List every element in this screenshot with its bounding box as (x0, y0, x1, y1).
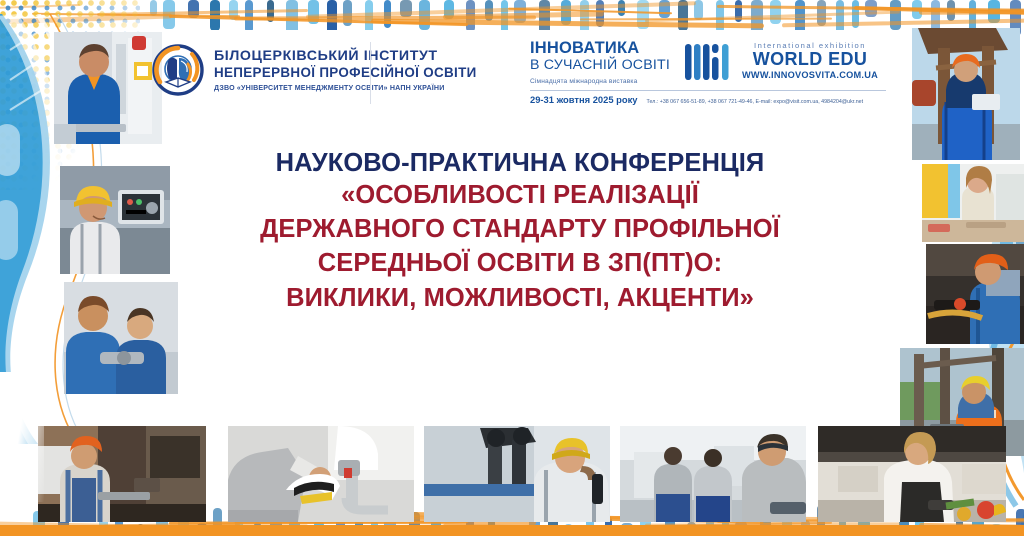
conference-title-line-2: ДЕРЖАВНОГО СТАНДАРТУ ПРОФІЛЬНОЇ (150, 212, 890, 246)
institute-name-line2: НЕПЕРЕРВНОЇ ПРОФЕСІЙНОЇ ОСВІТИ (214, 65, 477, 80)
innovatica-line2: В СУЧАСНІЙ ОСВІТІ (530, 58, 678, 74)
photo-bottom-3: Дівчина у жовтій касці з рацією біля про… (424, 426, 610, 522)
institute-text: БІЛОЦЕРКІВСЬКИЙ ІНСТИТУТ НЕПЕРЕРВНОЇ ПРО… (214, 49, 477, 91)
photo-right-3: Робітник у помаранчевій касці працює з д… (926, 244, 1024, 344)
innovatica-line1: ІННОВАТИКА (530, 40, 678, 57)
photo-bottom-1: Слюсар у помаранчевій касці працює в май… (38, 426, 206, 522)
conference-title-line-4: ВИКЛИКИ, МОЖЛИВОСТІ, АКЦЕНТИ» (150, 281, 890, 315)
header-divider (370, 42, 371, 104)
photo-left-1: Студент у синій робочій формі працює за … (54, 32, 162, 144)
conference-title-line-1: «ОСОБЛИВОСТІ РЕАЛІЗАЦІЇ (150, 178, 890, 212)
world-edu-bars-icon (684, 42, 732, 82)
world-edu-title: WORLD EDU (742, 50, 878, 69)
photo-bottom-4: Оператор верстата у виробничому цеху (620, 426, 806, 522)
world-edu-logo: International exhibition WORLD EDU WWW.I… (742, 41, 878, 80)
expo-contacts: Тел.: +38 067 656-51-89, +38 067 721-49-… (647, 99, 864, 105)
institute-name-line1: БІЛОЦЕРКІВСЬКИЙ ІНСТИТУТ (214, 49, 477, 65)
conference-title-line-3: СЕРЕДНЬОЇ ОСВІТИ В ЗП(ПТ)О: (150, 246, 890, 280)
expo-rule-divider (530, 90, 886, 91)
photo-bottom-2: Сантехнік у захисних окулярах ремонтує с… (228, 426, 414, 522)
photo-right-2: Дівчина-дизайнерка за столом із тканинам… (922, 164, 1024, 242)
innovatica-logo: ІННОВАТИКА В СУЧАСНІЙ ОСВІТІ Сімнадцята … (530, 40, 678, 85)
institute-emblem-icon (152, 44, 204, 96)
conference-title-block: НАУКОВО-ПРАКТИЧНА КОНФЕРЕНЦІЯ «ОСОБЛИВОС… (150, 148, 890, 315)
innovatica-subtitle: Сімнадцята міжнародна виставка (530, 78, 678, 85)
conference-poster: Студент у синій робочій формі працює за … (0, 0, 1024, 536)
conference-kicker: НАУКОВО-ПРАКТИЧНА КОНФЕРЕНЦІЯ (150, 148, 890, 178)
photo-bottom-5: Кухарка у фартуху нарізає овочі на профе… (818, 426, 1006, 522)
photo-right-1: Робітник у помаранчевій касці з ноутбуко… (912, 28, 1020, 160)
expo-branding: ІННОВАТИКА В СУЧАСНІЙ ОСВІТІ Сімнадцята … (530, 40, 890, 105)
expo-date: 29-31 жовтня 2025 року (530, 94, 638, 105)
world-edu-url[interactable]: WWW.INNOVOSVITA.COM.UA (742, 70, 878, 80)
institute-parent-org: ДЗВО «УНІВЕРСИТЕТ МЕНЕДЖМЕНТУ ОСВІТИ» НА… (214, 84, 477, 92)
institute-branding: БІЛОЦЕРКІВСЬКИЙ ІНСТИТУТ НЕПЕРЕРВНОЇ ПРО… (152, 36, 477, 96)
